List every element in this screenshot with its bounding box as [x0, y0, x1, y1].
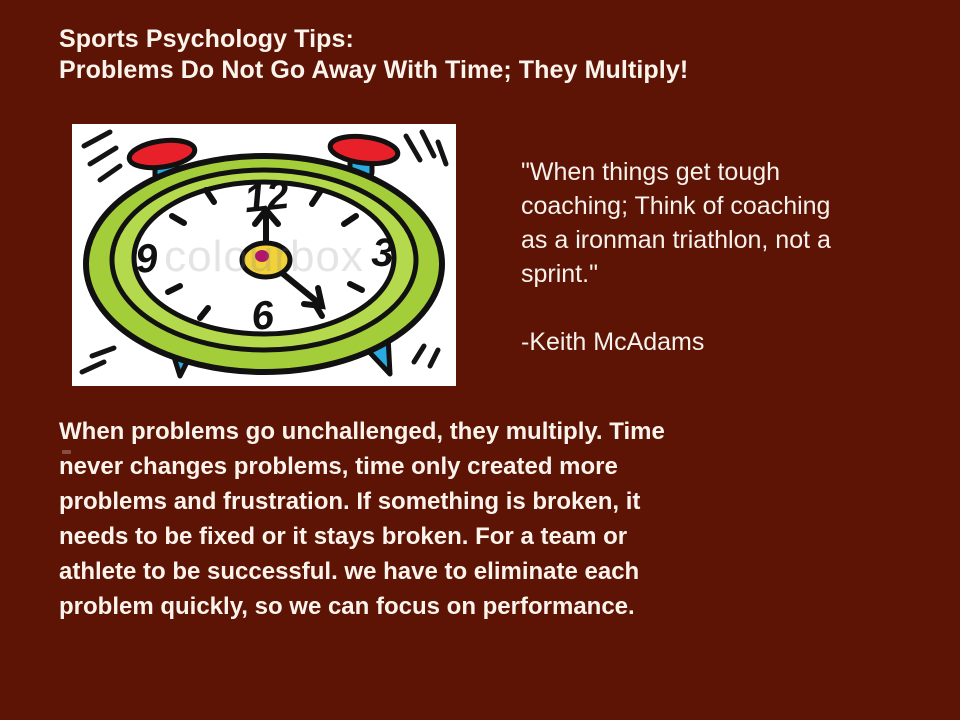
quote-block: "When things get tough coaching; Think o…	[521, 155, 931, 359]
body-paragraph: When problems go unchallenged, they mult…	[59, 414, 929, 624]
quote-line-4: sprint."	[521, 257, 931, 291]
quote-line-2: coaching; Think of coaching	[521, 189, 931, 223]
presentation-slide: Sports Psychology Tips: Problems Do Not …	[0, 0, 960, 720]
quote-attribution: -Keith McAdams	[521, 325, 931, 359]
body-line-5: athlete to be successful. we have to eli…	[59, 554, 929, 589]
alarm-clock-image: 12 3 6 9 colourbox	[72, 124, 456, 386]
title-line-1: Sports Psychology Tips:	[59, 24, 919, 55]
alarm-clock-icon: 12 3 6 9	[72, 124, 456, 386]
quote-line-3: as a ironman triathlon, not a	[521, 223, 931, 257]
body-line-4: needs to be fixed or it stays broken. Fo…	[59, 519, 929, 554]
body-line-6: problem quickly, so we can focus on perf…	[59, 589, 929, 624]
body-line-1: When problems go unchallenged, they mult…	[59, 414, 929, 449]
stray-artifact-mark	[62, 450, 71, 454]
body-line-3: problems and frustration. If something i…	[59, 484, 929, 519]
svg-text:3: 3	[370, 230, 395, 275]
slide-title: Sports Psychology Tips: Problems Do Not …	[59, 24, 919, 86]
body-line-2: never changes problems, time only create…	[59, 449, 929, 484]
quote-spacer	[521, 291, 931, 325]
title-line-2: Problems Do Not Go Away With Time; They …	[59, 55, 919, 86]
quote-line-1: "When things get tough	[521, 155, 931, 189]
